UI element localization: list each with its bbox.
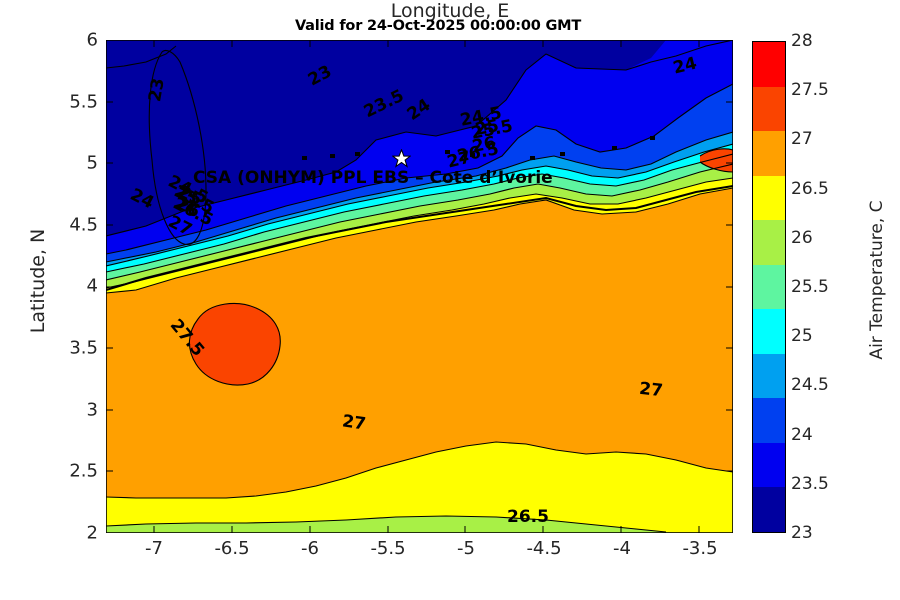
colorbar-tick-label: 28 <box>791 31 813 51</box>
colorbar-band <box>753 265 785 310</box>
station-marker <box>560 152 565 156</box>
contour-label: 26.5 <box>507 507 549 527</box>
colorbar-tick-label: 23 <box>791 523 813 543</box>
station-marker <box>355 152 360 156</box>
colorbar-tick-label: 26 <box>791 228 813 248</box>
colorbar-band <box>753 176 785 221</box>
station-marker <box>650 136 655 140</box>
x-tick-label: -4.5 <box>526 538 561 559</box>
y-tick-label: 6 <box>87 30 98 51</box>
x-tick-label: -3.5 <box>682 538 717 559</box>
figure-root: Valid for 24-Oct-2025 00:00:00 GMT <box>0 0 900 600</box>
station-marker <box>330 154 335 158</box>
y-tick-label: 3 <box>87 399 98 420</box>
colorbar-band <box>753 220 785 265</box>
figure-title-text: Valid for 24-Oct-2025 00:00:00 GMT <box>295 18 581 34</box>
x-tick-label: -6 <box>301 538 319 559</box>
colorbar-tick-label: 24.5 <box>791 375 829 395</box>
x-tick-label: -7 <box>145 538 163 559</box>
colorbar[interactable] <box>752 41 786 533</box>
colorbar-label: Air Temperature, C <box>867 160 887 400</box>
colorbar-band <box>753 309 785 354</box>
figure-title: Valid for 24-Oct-2025 00:00:00 GMT <box>0 18 900 34</box>
y-tick-label: 2.5 <box>69 461 98 482</box>
colorbar-tick-label: 25.5 <box>791 277 829 297</box>
station-marker <box>530 156 535 160</box>
colorbar-band <box>753 443 785 488</box>
star-marker <box>392 149 411 168</box>
y-tick-label: 5.5 <box>69 91 98 112</box>
y-tick-label: 5 <box>87 153 98 174</box>
y-tick-label: 4 <box>87 276 98 297</box>
colorbar-tick-label: 26.5 <box>791 179 829 199</box>
x-tick-label: -6.5 <box>214 538 249 559</box>
contour-label: 23 <box>145 77 169 104</box>
y-tick-label: 2 <box>87 522 98 543</box>
colorbar-tick-label: 27.5 <box>791 80 829 100</box>
site-annotation: CSA (ONHYM) PPL EBS – Cote d’Ivorie <box>193 168 553 188</box>
station-marker <box>302 156 307 160</box>
x-tick-label: -5.5 <box>370 538 405 559</box>
colorbar-band <box>753 487 785 532</box>
contour-label: 27 <box>341 411 367 434</box>
colorbar-band <box>753 42 785 87</box>
colorbar-band <box>753 354 785 399</box>
colorbar-tick-label: 25 <box>791 326 813 346</box>
y-axis-label: Latitude, N <box>27 181 49 381</box>
colorbar-band <box>753 87 785 132</box>
y-tick-label: 3.5 <box>69 338 98 359</box>
y-tick-label: 4.5 <box>69 214 98 235</box>
colorbar-tick-label: 24 <box>791 425 813 445</box>
x-tick-label: -4 <box>613 538 631 559</box>
colorbar-tick-label: 27 <box>791 129 813 149</box>
x-tick-label: -5 <box>457 538 475 559</box>
colorbar-band <box>753 131 785 176</box>
colorbar-tick-label: 23.5 <box>791 474 829 494</box>
colorbar-band <box>753 398 785 443</box>
contour-label: 27 <box>638 379 664 401</box>
station-marker <box>612 146 617 150</box>
